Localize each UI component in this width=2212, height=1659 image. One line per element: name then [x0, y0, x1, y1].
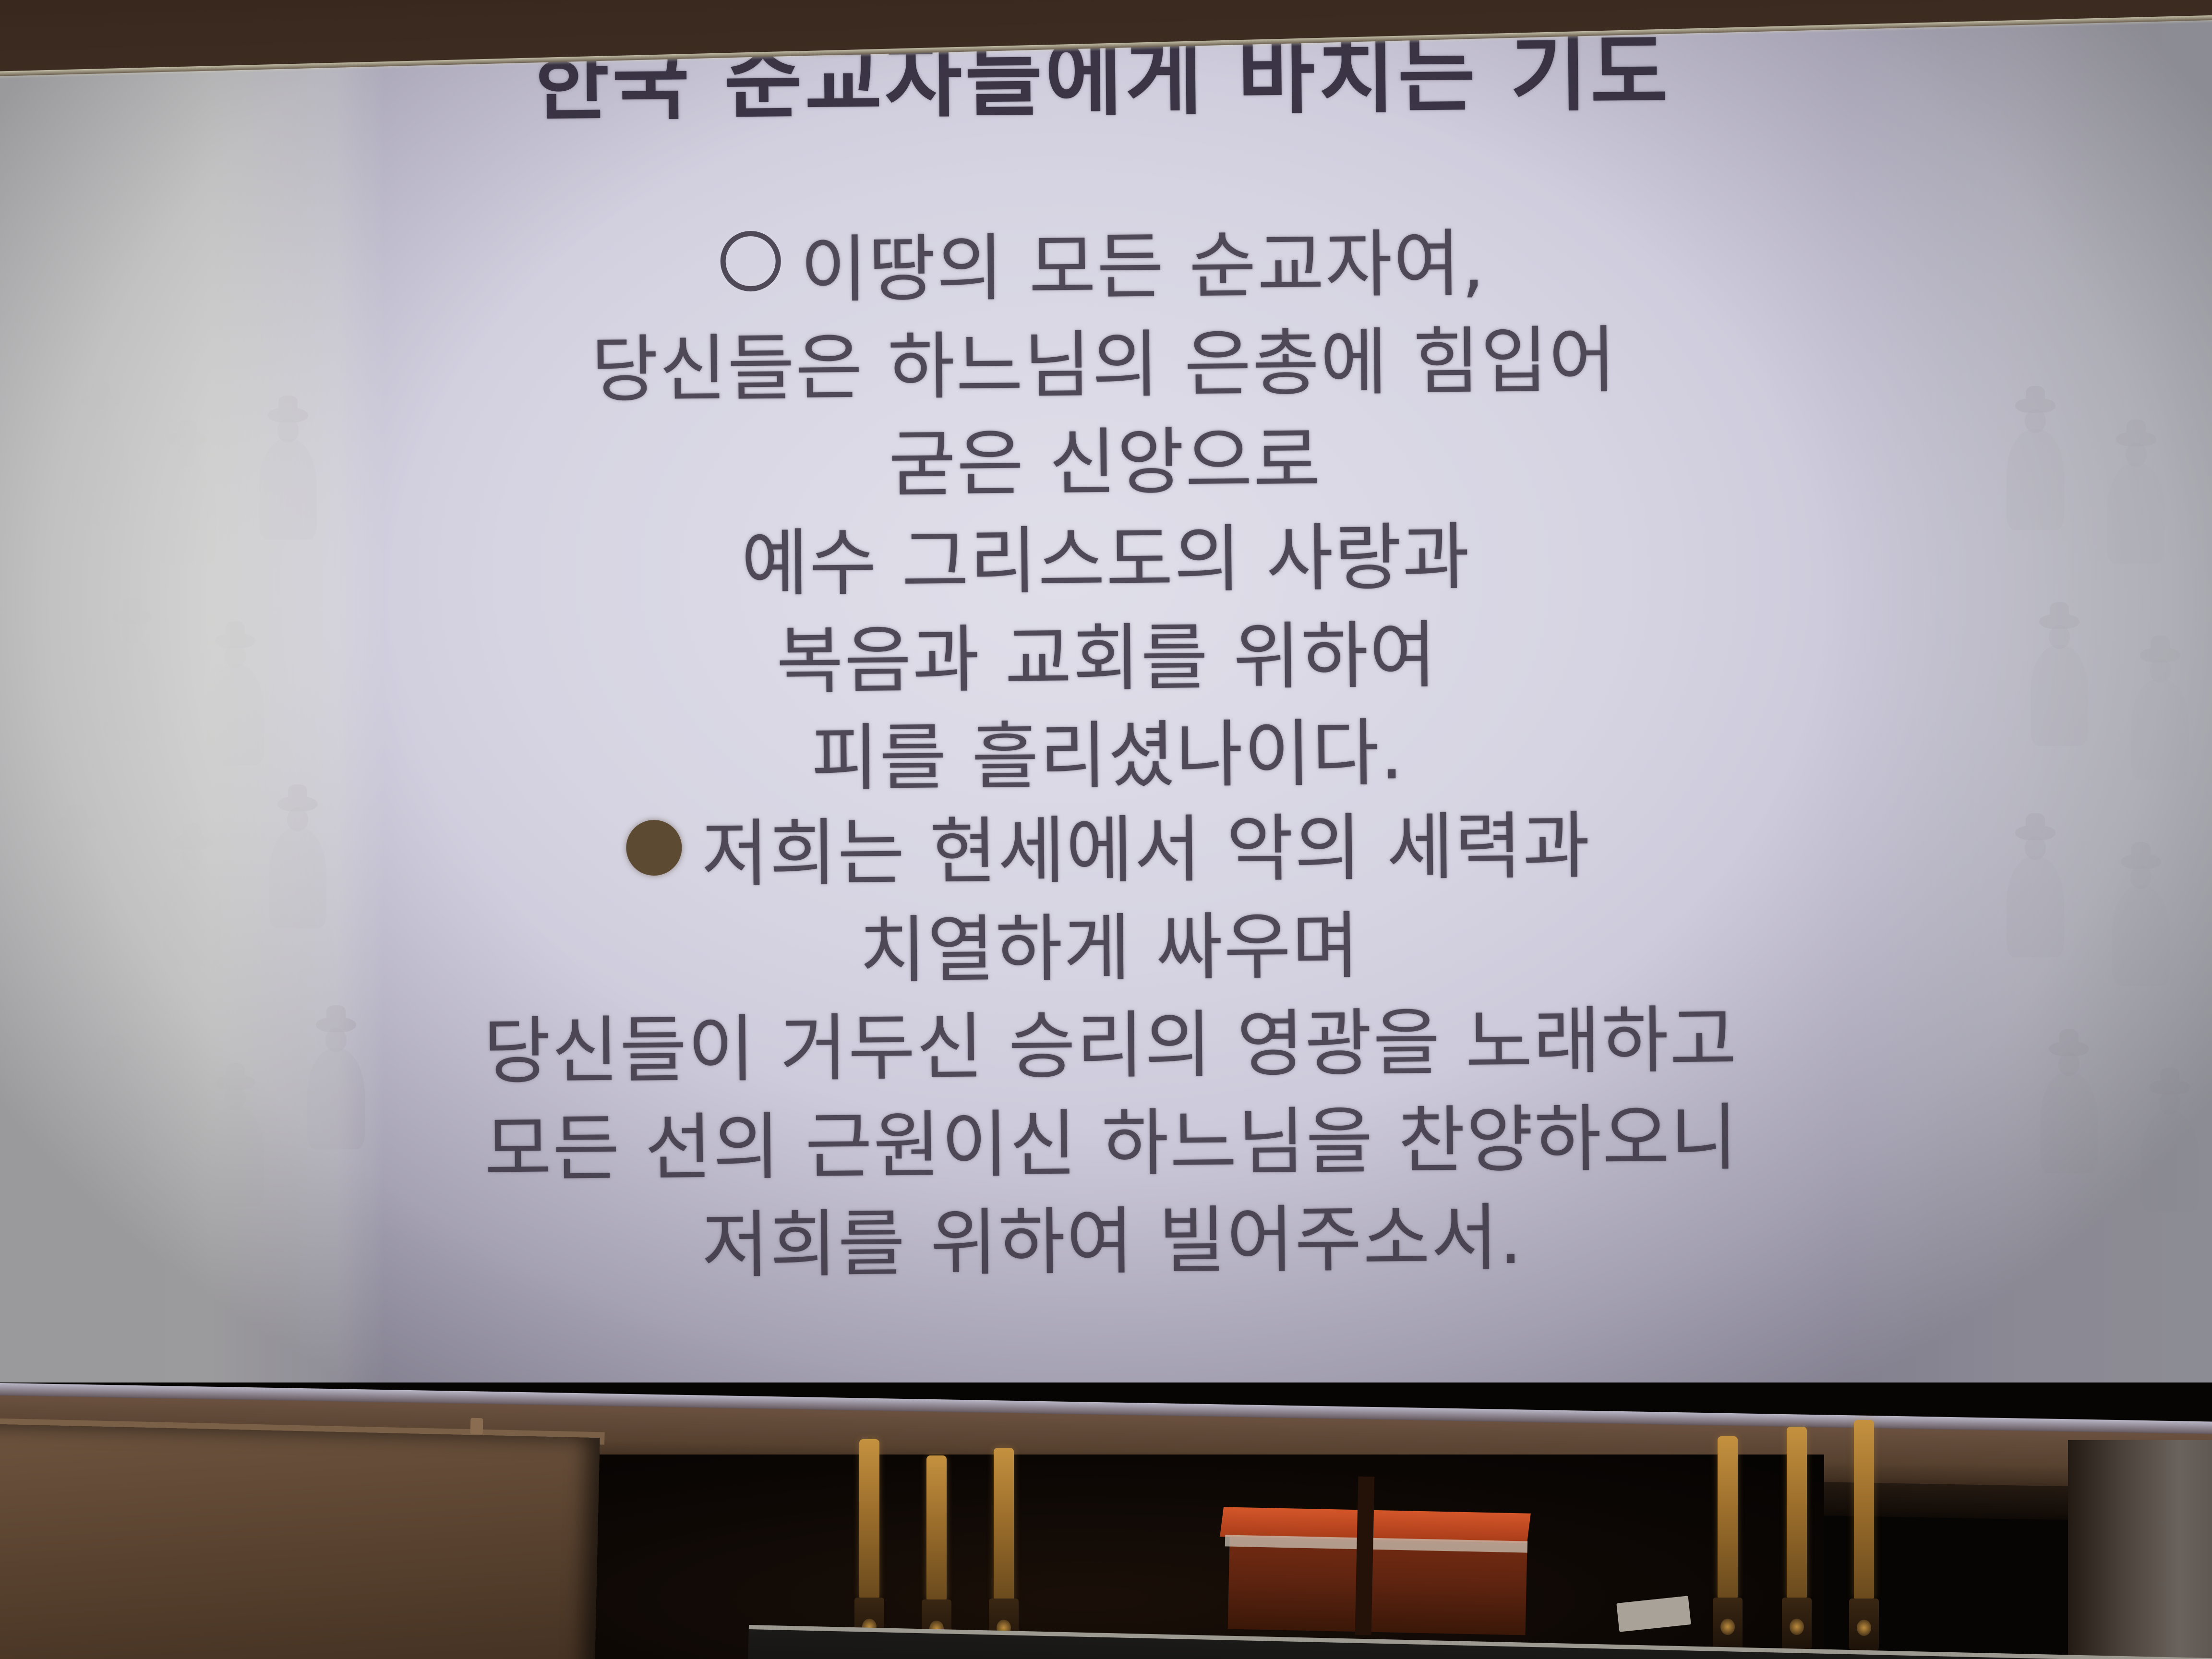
circle-filled-bullet-icon — [626, 819, 682, 876]
candle-right-2 — [1787, 1427, 1807, 1598]
candle-right-3 — [1854, 1420, 1874, 1599]
candle-glint-right-1 — [1720, 1619, 1735, 1635]
candle-left-1 — [859, 1439, 879, 1598]
candle-left-3 — [994, 1448, 1014, 1600]
candle-glint-right-3 — [1857, 1620, 1871, 1636]
prayer-stanza-2: 저희는 현세에서 악의 세력과 치열하게 싸우며 당신들이 거두신 승리의 영광… — [2, 791, 2212, 1301]
candle-glint-right-2 — [1790, 1619, 1804, 1635]
stanza-1-line-1-text: 이땅의 모든 순교자여, — [800, 221, 1486, 313]
lectern-cross-post-icon — [1355, 1477, 1375, 1635]
right-pillar — [2068, 1440, 2212, 1659]
sanctuary-foreground: 순교자들의 신앙 — [0, 1382, 2212, 1659]
candle-right-1 — [1718, 1436, 1738, 1598]
photographed-projection-scene: 한국 순교자들에게 바치는 기도 이땅의 모든 순교자여, 당신들은 하느님의 … — [0, 0, 2212, 1659]
panel-nail-icon — [470, 1418, 483, 1435]
prayer-stanza-1: 이땅의 모든 순교자여, 당신들은 하느님의 은총에 힘입어 굳은 신앙으로 예… — [0, 208, 2212, 816]
stanza-2-line-5: 저희를 위하여 빌어주소서. — [6, 1182, 2212, 1301]
left-wooden-panel — [0, 1424, 600, 1659]
stanza-2-line-1-text: 저희는 현세에서 악의 세력과 — [701, 803, 1591, 897]
slide-content: 한국 순교자들에게 바치는 기도 이땅의 모든 순교자여, 당신들은 하느님의 … — [0, 0, 2212, 1435]
circle-outline-bullet-icon — [720, 230, 781, 291]
candle-left-2 — [926, 1455, 947, 1599]
projection-screen: 한국 순교자들에게 바치는 기도 이땅의 모든 순교자여, 당신들은 하느님의 … — [0, 0, 2212, 1435]
